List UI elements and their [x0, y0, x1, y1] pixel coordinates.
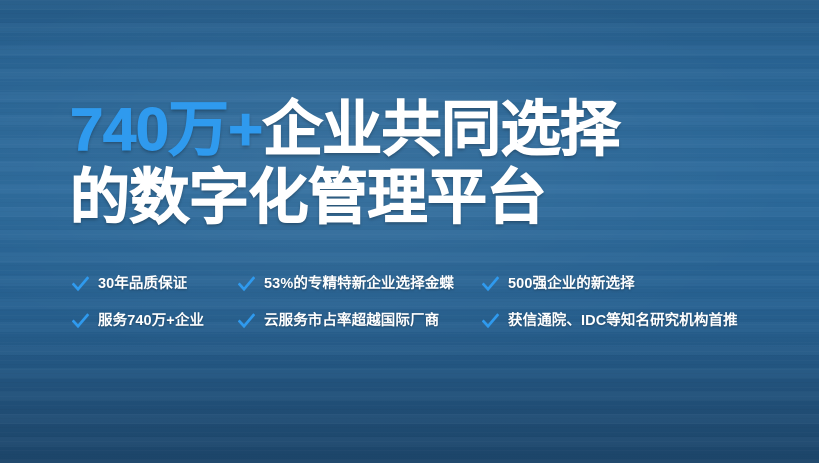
check-icon — [238, 276, 255, 293]
feature-label: 53%的专精特新企业选择金蝶 — [264, 276, 454, 293]
feature-label: 云服务市占率超越国际厂商 — [264, 313, 439, 330]
feature-row: 服务740万+企业 云服务市占率超越国际厂商 — [72, 303, 772, 340]
feature-label: 500强企业的新选择 — [508, 276, 635, 293]
promo-banner: 740万+企业共同选择 的数字化管理平台 30年品质保证 — [0, 0, 819, 463]
headline-line-1: 740万+企业共同选择 — [70, 96, 770, 164]
feature-item: 服务740万+企业 — [72, 303, 238, 340]
check-icon — [72, 276, 89, 293]
feature-item: 30年品质保证 — [72, 266, 238, 303]
check-icon — [72, 313, 89, 330]
feature-label: 获信通院、IDC等知名研究机构首推 — [508, 313, 738, 330]
headline-line-2-text: 的数字化管理平台 — [70, 164, 546, 231]
check-icon — [482, 276, 499, 293]
check-icon — [482, 313, 499, 330]
headline-line-1-text: 企业共同选择 — [263, 96, 620, 163]
feature-label: 服务740万+企业 — [98, 313, 204, 330]
headline-accent-metric: 740万+ — [70, 96, 263, 163]
feature-item: 云服务市占率超越国际厂商 — [238, 303, 482, 340]
feature-label: 30年品质保证 — [98, 276, 187, 293]
check-icon — [238, 313, 255, 330]
feature-item: 获信通院、IDC等知名研究机构首推 — [482, 303, 772, 340]
feature-item: 53%的专精特新企业选择金蝶 — [238, 266, 482, 303]
feature-list: 30年品质保证 53%的专精特新企业选择金蝶 — [72, 266, 772, 340]
feature-item: 500强企业的新选择 — [482, 266, 772, 303]
headline: 740万+企业共同选择 的数字化管理平台 — [70, 96, 770, 232]
feature-row: 30年品质保证 53%的专精特新企业选择金蝶 — [72, 266, 772, 303]
headline-line-2: 的数字化管理平台 — [70, 164, 770, 232]
